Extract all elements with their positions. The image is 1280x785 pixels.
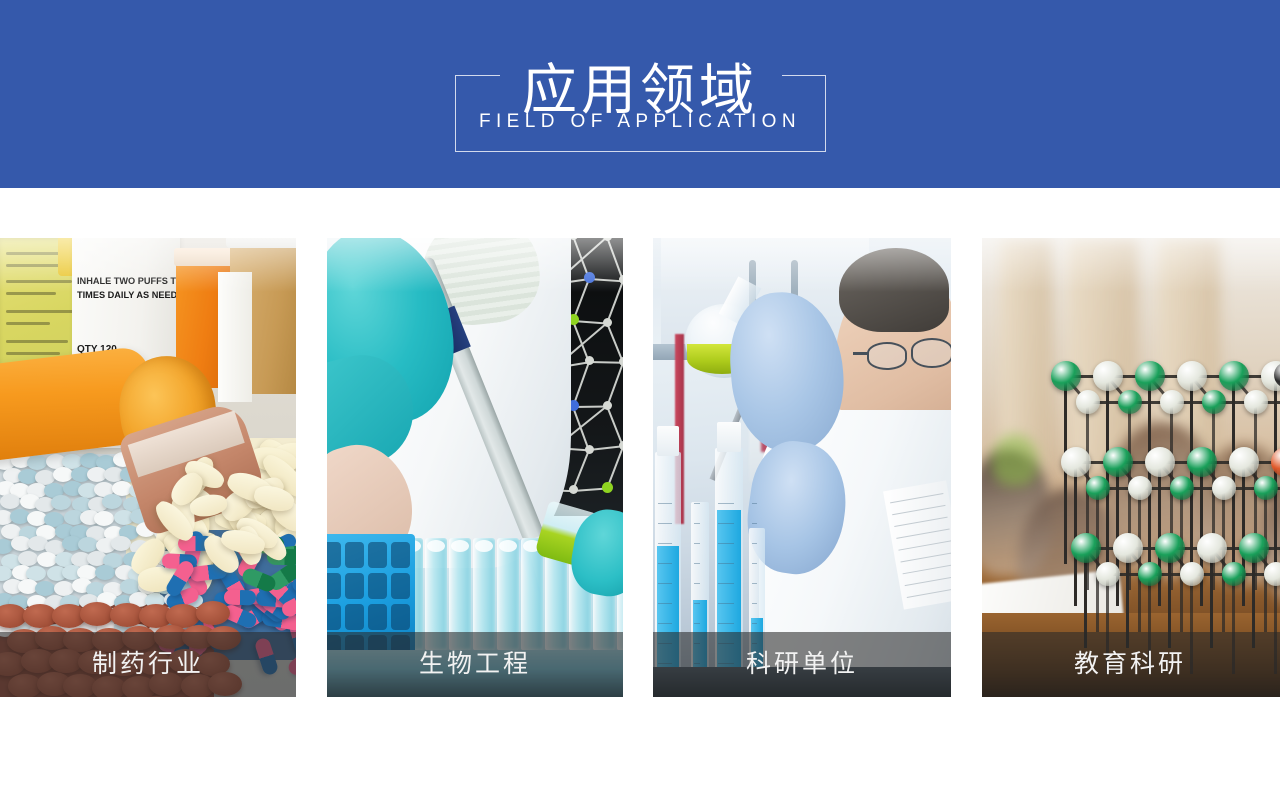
eyeglass-bridge [853, 352, 869, 355]
model-atom-ball [1086, 476, 1110, 500]
model-atom-ball [1244, 390, 1268, 414]
rack-slot [327, 604, 341, 630]
round-tablet [54, 581, 74, 596]
eyeglass-lens-right [911, 338, 951, 368]
researcher-hair [839, 248, 949, 332]
model-atom-ball [1229, 447, 1259, 477]
model-atom-ball [1135, 361, 1165, 391]
model-rod-vertical [1242, 462, 1245, 606]
model-atom-ball [1222, 562, 1246, 586]
graduation-mark [752, 583, 757, 584]
card-caption-bioengineering: 生物工程 [327, 632, 623, 697]
model-atom-ball [1051, 361, 1081, 391]
page-title-english: FIELD OF APPLICATION [0, 110, 1280, 134]
graduation-mark [658, 523, 672, 524]
round-tablet [53, 467, 73, 482]
graduation-mark [658, 563, 672, 564]
notepad-rule [900, 552, 951, 562]
card-caption-education: 教育科研 [982, 632, 1280, 697]
graduation-mark [694, 623, 700, 624]
rack-slot [345, 542, 364, 568]
graduation-mark [752, 623, 757, 624]
rack-slot [327, 542, 341, 568]
rack-slot [327, 573, 341, 599]
molecular-atom [603, 401, 612, 410]
graduation-mark [658, 603, 672, 604]
model-atom-ball [1197, 533, 1227, 563]
model-atom-ball [1202, 390, 1226, 414]
molecular-atom [603, 318, 612, 327]
rack-slot [345, 573, 364, 599]
rack-slot [368, 542, 387, 568]
notepad-rule [896, 528, 949, 538]
brown-tablet [80, 602, 114, 626]
model-rod-vertical [1116, 462, 1119, 606]
eyeglass-lens-left [867, 342, 907, 370]
rack-slot [391, 542, 410, 568]
model-atom-ball [1138, 562, 1162, 586]
round-tablet [51, 495, 71, 510]
graduation-mark [658, 543, 672, 544]
pill-bottles-and-tablets-photo: INHALE TWO PUFFS TWICE TIMES DAILY AS NE… [0, 238, 296, 697]
notepad-rule [890, 493, 943, 503]
graduation-mark [718, 563, 734, 564]
rack-slot [368, 604, 387, 630]
vial-rim [475, 540, 493, 552]
application-fields-card-row: INHALE TWO PUFFS TWICE TIMES DAILY AS NE… [0, 188, 1280, 785]
molecular-atom [585, 356, 594, 365]
graduation-mark [658, 583, 672, 584]
graduation-mark [752, 503, 757, 504]
cylinder-white-cap [657, 426, 679, 456]
model-atom-ball [1155, 533, 1185, 563]
vial-rim [451, 540, 469, 552]
round-tablet [18, 551, 38, 566]
vial-rim [499, 540, 517, 552]
label-line-1: INHALE TWO PUFFS TWICE [77, 276, 176, 287]
graduation-mark [694, 523, 700, 524]
vial-rim [427, 540, 445, 552]
graduation-mark [694, 603, 700, 604]
graduation-mark [752, 543, 757, 544]
graduation-mark [694, 543, 700, 544]
page-banner: 应用领域 FIELD OF APPLICATION [0, 0, 1280, 188]
graduation-mark [752, 523, 757, 524]
model-rod-vertical [1200, 462, 1203, 606]
model-atom-ball [1061, 447, 1091, 477]
model-atom-ball [1076, 390, 1100, 414]
model-atom-ball [1271, 447, 1280, 477]
researcher-holding-flask-photo [653, 238, 951, 697]
cylinder-white-cap [717, 422, 741, 452]
model-atom-ball [1180, 562, 1204, 586]
card-education-and-research[interactable]: 教育科研 [982, 238, 1280, 697]
model-atom-ball [1096, 562, 1120, 586]
graduation-mark [718, 543, 734, 544]
graduation-mark [694, 503, 700, 504]
graduation-mark [658, 503, 672, 504]
rack-slot [368, 573, 387, 599]
molecular-atom [569, 485, 578, 494]
molecular-atom [585, 445, 594, 454]
classroom-molecular-model-photo [982, 238, 1280, 697]
card-caption-research-institutes: 科研单位 [653, 632, 951, 697]
model-atom-ball [1187, 447, 1217, 477]
notepad-rule [907, 588, 951, 598]
model-atom-ball [1145, 447, 1175, 477]
label-line-2: TIMES DAILY AS NEEDED [77, 290, 176, 301]
graduation-mark [658, 623, 672, 624]
model-atom-ball [1219, 361, 1249, 391]
model-atom-ball [1093, 361, 1123, 391]
model-atom-ball [1170, 476, 1194, 500]
model-atom-ball [1160, 390, 1184, 414]
molecular-atom [584, 272, 595, 283]
scientist-pipetting-vials-photo [327, 238, 623, 697]
graduation-mark [718, 583, 734, 584]
two-tone-capsule [224, 589, 257, 605]
model-rod-vertical [1074, 462, 1077, 606]
model-atom-ball [1118, 390, 1142, 414]
card-research-institutes[interactable]: 科研单位 [653, 238, 951, 697]
model-atom-ball [1071, 533, 1101, 563]
card-bioengineering[interactable]: 生物工程 [327, 238, 623, 697]
notepad-rule [903, 564, 951, 574]
rack-slot [391, 573, 410, 599]
graduation-mark [752, 563, 757, 564]
model-atom-ball [1103, 447, 1133, 477]
notepad-rule [894, 517, 947, 527]
graduation-mark [718, 503, 734, 504]
card-pharmaceutical-industry[interactable]: INHALE TWO PUFFS TWICE TIMES DAILY AS NE… [0, 238, 296, 697]
graduation-mark [718, 603, 734, 604]
molecular-atom [602, 482, 613, 493]
tall-white-label [218, 272, 252, 402]
graduation-mark [718, 623, 734, 624]
rack-slot [345, 604, 364, 630]
round-tablet [95, 565, 115, 580]
notepad-rule [892, 505, 945, 515]
card-caption-pharmaceutical: 制药行业 [0, 632, 296, 697]
model-atom-ball [1177, 361, 1207, 391]
rack-slot [391, 604, 410, 630]
graduation-mark [694, 583, 700, 584]
model-atom-ball [1128, 476, 1152, 500]
model-atom-ball [1239, 533, 1269, 563]
brown-tablet [196, 601, 230, 625]
graduation-mark [694, 563, 700, 564]
model-atom-ball [1113, 533, 1143, 563]
brown-tablet [166, 604, 200, 628]
round-tablet [35, 581, 55, 596]
notepad-rule [905, 576, 951, 586]
model-atom-ball [1254, 476, 1278, 500]
graduation-mark [718, 523, 734, 524]
graduation-mark [752, 603, 757, 604]
model-rod-vertical [1158, 462, 1161, 606]
model-atom-ball [1212, 476, 1236, 500]
notepad-rule [898, 540, 951, 550]
